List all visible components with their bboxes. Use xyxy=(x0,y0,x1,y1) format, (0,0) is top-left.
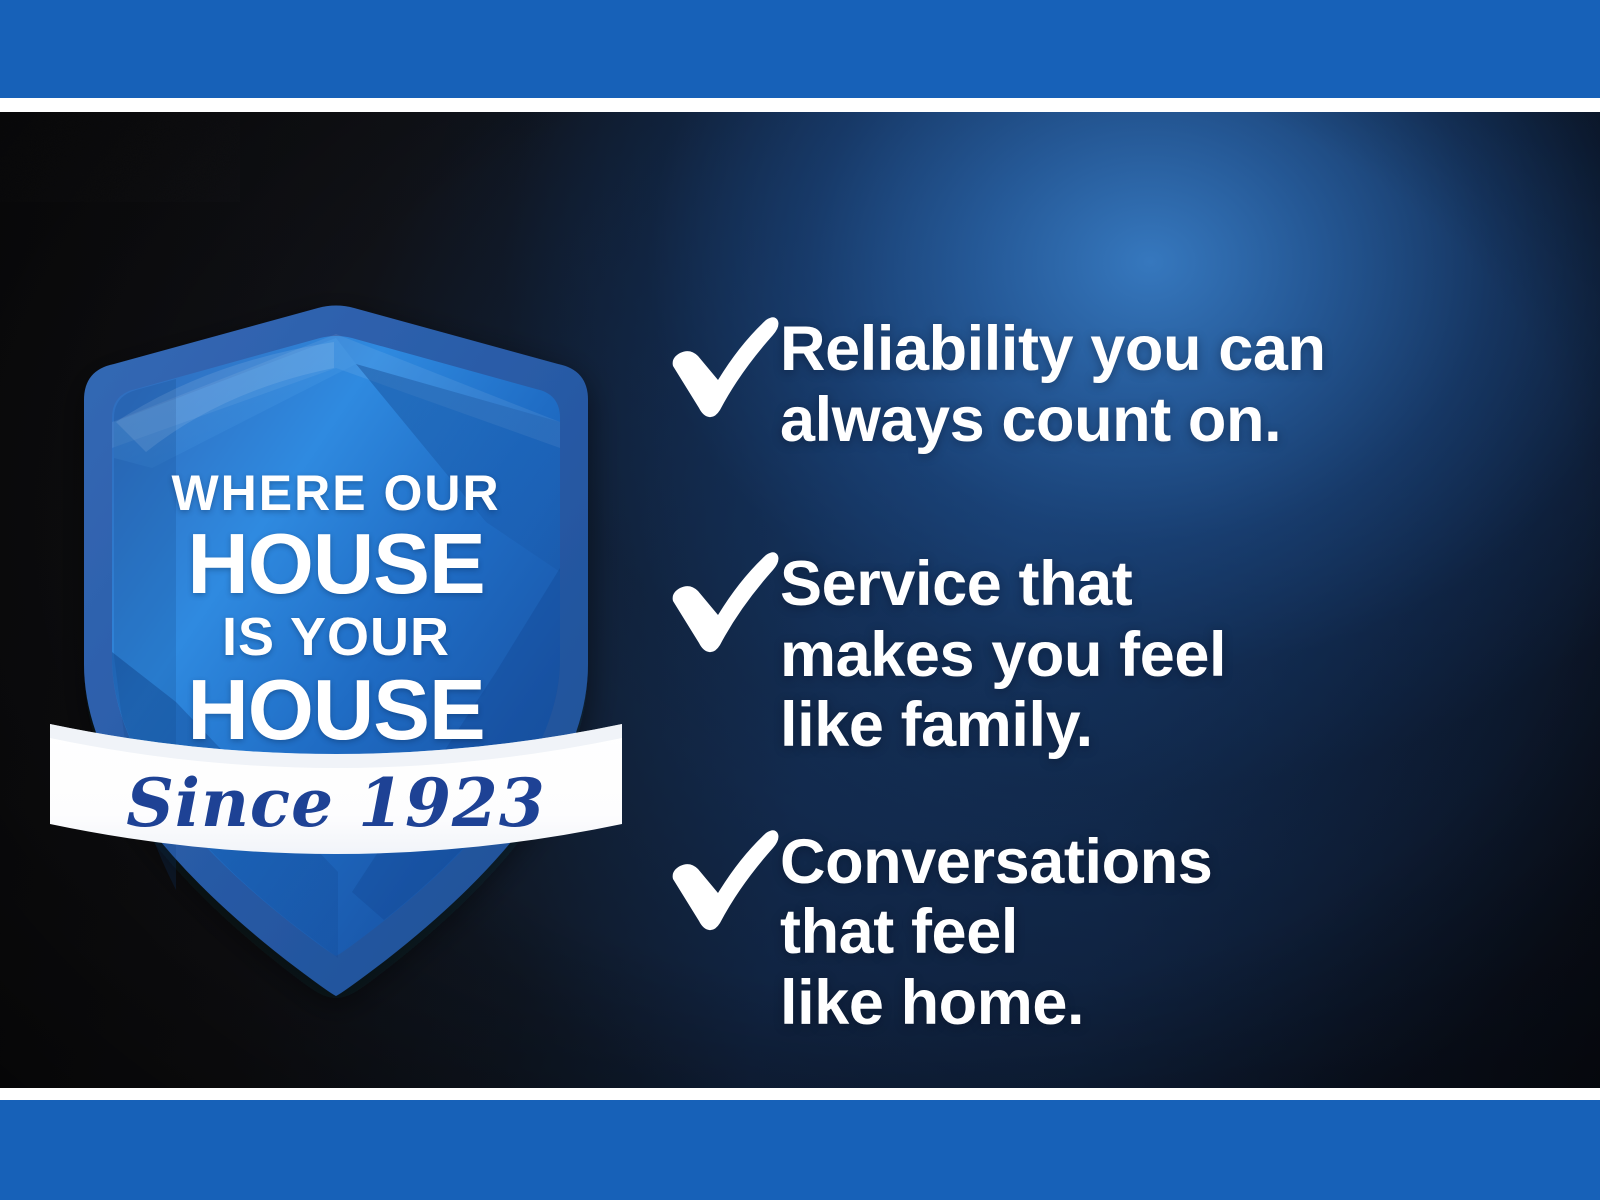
benefit-text: Conversations that feel like home. xyxy=(780,825,1528,1039)
main-canvas: WHERE OUR HOUSE IS YOUR HOUSE Since 1923… xyxy=(0,112,1600,1088)
checkmark-glyph xyxy=(668,827,780,931)
checkmark-icon xyxy=(668,827,780,931)
top-brand-bar xyxy=(0,0,1600,98)
shield-badge: WHERE OUR HOUSE IS YOUR HOUSE Since 1923 xyxy=(56,272,616,912)
checkmark-icon xyxy=(668,314,780,418)
bottom-brand-bar xyxy=(0,1100,1600,1200)
benefit-item: Service that makes you feel like family. xyxy=(668,547,1528,761)
promo-graphic: WHERE OUR HOUSE IS YOUR HOUSE Since 1923… xyxy=(0,0,1600,1200)
benefit-item: Conversations that feel like home. xyxy=(668,825,1528,1039)
benefit-item: Reliability you can always count on. xyxy=(668,312,1528,455)
benefit-text: Reliability you can always count on. xyxy=(780,312,1528,455)
shield-badge-icon xyxy=(56,272,616,912)
checkmark-icon xyxy=(668,549,780,653)
top-white-divider xyxy=(0,98,1600,112)
checkmark-glyph xyxy=(668,314,780,418)
benefit-text: Service that makes you feel like family. xyxy=(780,547,1528,761)
benefits-list: Reliability you can always count on. Ser… xyxy=(668,312,1528,1038)
bottom-white-divider xyxy=(0,1088,1600,1100)
checkmark-glyph xyxy=(668,549,780,653)
